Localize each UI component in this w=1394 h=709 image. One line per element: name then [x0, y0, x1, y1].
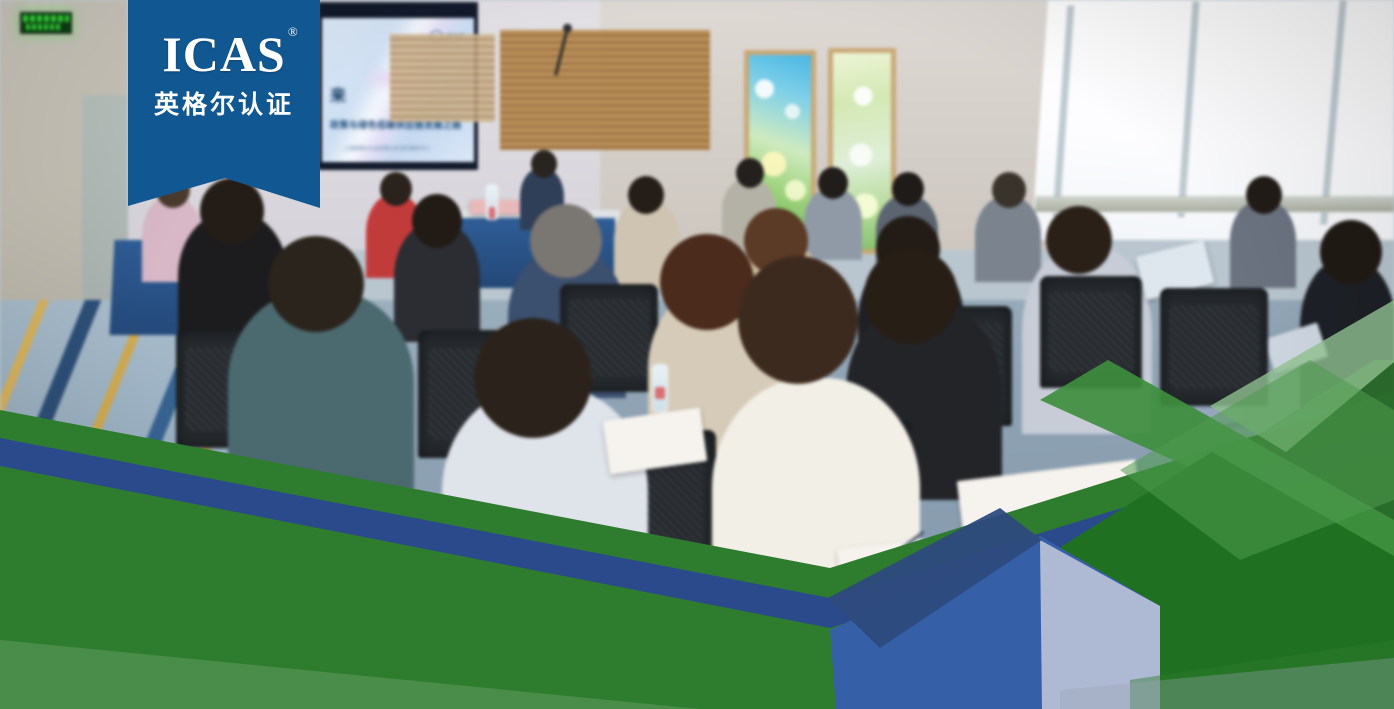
- logo-chinese-name: 英格尔认证: [154, 85, 294, 121]
- logo-wordmark: ICAS®: [162, 29, 285, 79]
- banner-root: ICAS 来 政策与绿色低碳供应链发展之路 上海英格尔认证有限公司 技术服务中心: [0, 0, 1394, 709]
- logo-wordmark-text: ICAS: [162, 26, 285, 82]
- registered-mark: ®: [288, 25, 299, 38]
- logo-panel: ICAS® 英格尔认证: [128, 0, 320, 210]
